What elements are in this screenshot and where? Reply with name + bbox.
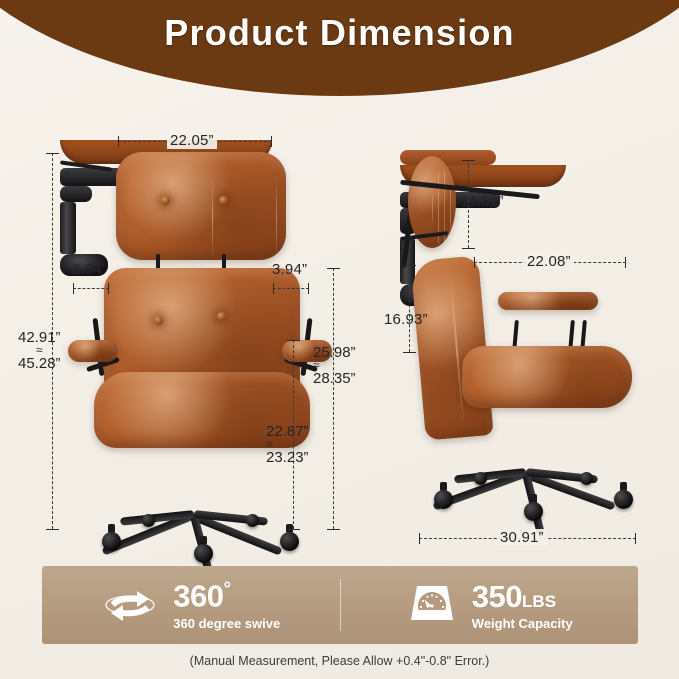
dim-label-backrest-height: 25.98” ≈ 28.35” xyxy=(313,345,356,386)
tuft-button xyxy=(154,316,163,325)
dim-cap xyxy=(474,257,475,268)
dim-cap xyxy=(271,136,272,147)
feature-bar: 360° 360 degree swive 350LBS xyxy=(42,566,638,644)
headrest-cushion xyxy=(116,152,286,260)
armrest-pad-lower-side xyxy=(400,150,496,165)
tuft-button xyxy=(219,196,228,205)
dim-cap xyxy=(46,153,59,154)
caster-wheel xyxy=(246,514,259,527)
caster-wheel xyxy=(102,532,121,551)
header-banner: Product Dimension xyxy=(0,0,679,96)
dim-label-base-width: 30.91” xyxy=(497,529,547,546)
caster-wheel xyxy=(194,544,213,563)
dim-cap xyxy=(46,529,59,530)
caster-wheel xyxy=(580,472,593,485)
dim-label-overall-height: 42.91” ≈ 45.28” xyxy=(18,330,61,371)
caster-wheel xyxy=(474,472,487,485)
dim-label-backrest-side: 16.93” xyxy=(384,311,428,328)
dim-cap xyxy=(327,268,340,269)
page-title: Product Dimension xyxy=(0,12,679,54)
product-dimension-infographic: Product Dimension xyxy=(0,0,679,679)
gaslift-collar xyxy=(60,186,92,202)
dim-cap xyxy=(403,265,416,266)
dim-label-armrest-left: 3.94” xyxy=(72,261,107,278)
dim-cap xyxy=(419,533,420,544)
seat-cushion-side xyxy=(462,346,632,408)
dim-label-overall-width: 22.05” xyxy=(167,132,217,149)
dim-cap xyxy=(635,533,636,544)
dim-value-height-max: 45.28” xyxy=(18,355,61,372)
feature-weight-capacity: 350LBS Weight Capacity xyxy=(341,566,639,644)
caster-wheel xyxy=(280,532,299,551)
dim-line-armrest-left xyxy=(73,288,109,290)
caster-wheel xyxy=(524,502,543,521)
tuft-button xyxy=(161,196,170,205)
measurement-disclaimer: (Manual Measurement, Please Allow +0.4"-… xyxy=(0,654,679,668)
feature-swivel: 360° 360 degree swive xyxy=(42,566,340,644)
caster-wheel xyxy=(142,514,155,527)
dim-cap xyxy=(73,283,74,294)
feature-swivel-caption: 360 degree swive xyxy=(173,617,280,630)
degree-symbol: ° xyxy=(224,579,231,600)
feature-swivel-text: 360° 360 degree swive xyxy=(173,580,280,629)
dim-line-backrest-height xyxy=(333,268,335,529)
dim-cap xyxy=(118,136,119,147)
dim-line-backrest-side xyxy=(409,265,411,352)
dim-label-armrest-right: 3.94” xyxy=(272,261,307,278)
weight-unit: LBS xyxy=(522,592,556,611)
gas-lift-cylinder xyxy=(60,202,76,254)
dim-value-backrest-max: 28.35” xyxy=(313,370,356,387)
armrest-pad-side xyxy=(498,292,598,310)
dim-cap xyxy=(287,340,300,341)
dim-cap xyxy=(287,529,300,530)
tuft-button xyxy=(217,312,226,321)
feature-weight-value: 350LBS xyxy=(472,581,573,612)
dim-cap xyxy=(273,283,274,294)
caster-wheel xyxy=(614,490,633,509)
dim-cap xyxy=(462,248,475,249)
dim-label-seat-height: 22.87” ≈ 23.23” xyxy=(266,424,309,465)
armrest-pad-left xyxy=(68,340,118,362)
dim-label-seat-depth: 22.08” xyxy=(524,253,574,270)
dim-value-seat-max: 23.23” xyxy=(266,449,309,466)
scale-icon xyxy=(406,580,458,631)
dim-cap xyxy=(625,257,626,268)
rotate-arrows-icon xyxy=(101,581,159,630)
dim-label-headrest-height: 11.81” xyxy=(461,193,504,210)
feature-swivel-value: 360° xyxy=(173,580,280,611)
dim-line-armrest-right xyxy=(273,288,309,290)
headrest-seam-right xyxy=(276,174,277,262)
dim-cap xyxy=(403,352,416,353)
dim-cap xyxy=(462,160,475,161)
side-view-chair xyxy=(400,150,670,540)
dim-cap xyxy=(108,283,109,294)
dim-cap xyxy=(327,529,340,530)
feature-weight-caption: Weight Capacity xyxy=(472,617,573,630)
caster-wheel xyxy=(434,490,453,509)
dim-cap xyxy=(308,283,309,294)
headrest-seam-left xyxy=(212,174,213,262)
feature-weight-text: 350LBS Weight Capacity xyxy=(472,581,573,630)
